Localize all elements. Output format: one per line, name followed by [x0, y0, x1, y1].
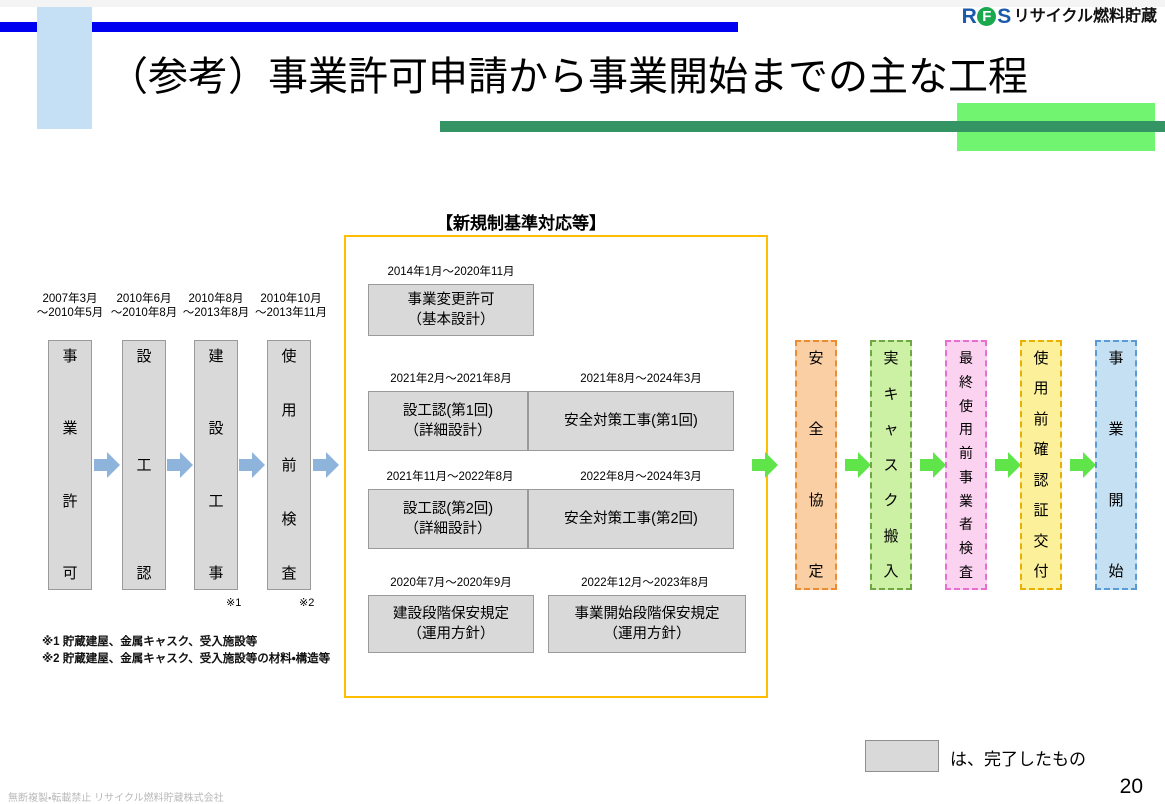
- logo-company-name: リサイクル燃料貯蔵: [1014, 9, 1157, 25]
- center-item-box-2-0: 設工認(第2回) （詳細設計）: [368, 489, 528, 549]
- legend-label: は、完了したもの: [950, 745, 1086, 770]
- footnote-line-2: ※2 貯蔵建屋、金属キャスク、受入施設等の材料・構造等: [42, 651, 330, 668]
- center-item-date-3-1: 2022年12月～2023年8月: [550, 574, 740, 590]
- center-item-date-1-1: 2021年8月～2024年3月: [548, 370, 734, 386]
- arrow-right-icon-r0: [752, 450, 778, 480]
- center-item-box-1-0: 設工認(第1回) （詳細設計）: [368, 391, 528, 451]
- arrow-right-icon-r3: [995, 450, 1021, 480]
- page-number: 20: [1120, 775, 1143, 799]
- left-step-box-2: 建 設 工 事: [194, 340, 238, 590]
- green-accent-bar: [440, 121, 1165, 132]
- arrow-right-icon-r2: [920, 450, 946, 480]
- center-item-date-3-0: 2020年7月～2020年9月: [368, 574, 534, 590]
- arrow-right-icon-l3: [313, 450, 339, 480]
- logo-letter-s: S: [997, 6, 1011, 27]
- left-step-box-0: 事 業 許 可: [48, 340, 92, 590]
- center-item-date-2-1: 2022年8月～2024年3月: [548, 468, 734, 484]
- footnote-marker-1: ※1: [226, 596, 241, 609]
- center-panel-title: 【新規制基準対応等】: [436, 209, 606, 234]
- footer-copyright: 無断複製・転載禁止 リサイクル燃料貯蔵株式会社: [8, 789, 224, 804]
- blue-accent-bar: [0, 22, 738, 32]
- right-step-box-0: 安 全 協 定: [795, 340, 837, 590]
- left-step-box-1: 設 工 認: [122, 340, 166, 590]
- left-step-date-3: 2010年10月 ～2013年11月: [245, 292, 337, 320]
- center-item-date-0-0: 2014年1月～2020年11月: [368, 263, 534, 279]
- right-step-box-3: 使 用 前 確 認 証 交 付: [1020, 340, 1062, 590]
- left-step-box-3: 使 用 前 検 査: [267, 340, 311, 590]
- arrow-right-icon-l2: [239, 450, 265, 480]
- logo-letter-f-icon: F: [977, 7, 996, 26]
- center-item-box-3-1: 事業開始段階保安規定 （運用方針）: [548, 595, 746, 653]
- legend-swatch: [865, 740, 939, 772]
- center-item-date-2-0: 2021年11月～2022年8月: [364, 468, 536, 484]
- arrow-right-icon-l1: [167, 450, 193, 480]
- footnote-marker-2: ※2: [299, 596, 314, 609]
- company-logo: R F S リサイクル燃料貯蔵: [962, 6, 1157, 27]
- center-item-box-0-0: 事業変更許可 （基本設計）: [368, 284, 534, 336]
- page-title: （参考）事業許可申請から事業開始までの主な工程: [108, 44, 1108, 102]
- slide-root: R F S リサイクル燃料貯蔵 （参考）事業許可申請から事業開始までの主な工程 …: [0, 0, 1165, 804]
- light-blue-accent-block: [37, 7, 92, 129]
- center-item-box-2-1: 安全対策工事(第2回): [528, 489, 734, 549]
- logo-letter-r: R: [962, 6, 977, 27]
- arrow-right-icon-l0: [94, 450, 120, 480]
- arrow-right-icon-r4: [1070, 450, 1096, 480]
- center-item-box-1-1: 安全対策工事(第1回): [528, 391, 734, 451]
- right-step-box-4: 事 業 開 始: [1095, 340, 1137, 590]
- right-step-box-2: 最 終 使 用 前 事 業 者 検 査: [945, 340, 987, 590]
- footnotes-block: ※1 貯蔵建屋、金属キャスク、受入施設等 ※2 貯蔵建屋、金属キャスク、受入施設…: [42, 634, 330, 668]
- right-step-box-1: 実 キ ャ ス ク 搬 入: [870, 340, 912, 590]
- center-item-box-3-0: 建設段階保安規定 （運用方針）: [368, 595, 534, 653]
- arrow-right-icon-r1: [845, 450, 871, 480]
- center-item-date-1-0: 2021年2月～2021年8月: [368, 370, 534, 386]
- footnote-line-1: ※1 貯蔵建屋、金属キャスク、受入施設等: [42, 634, 330, 651]
